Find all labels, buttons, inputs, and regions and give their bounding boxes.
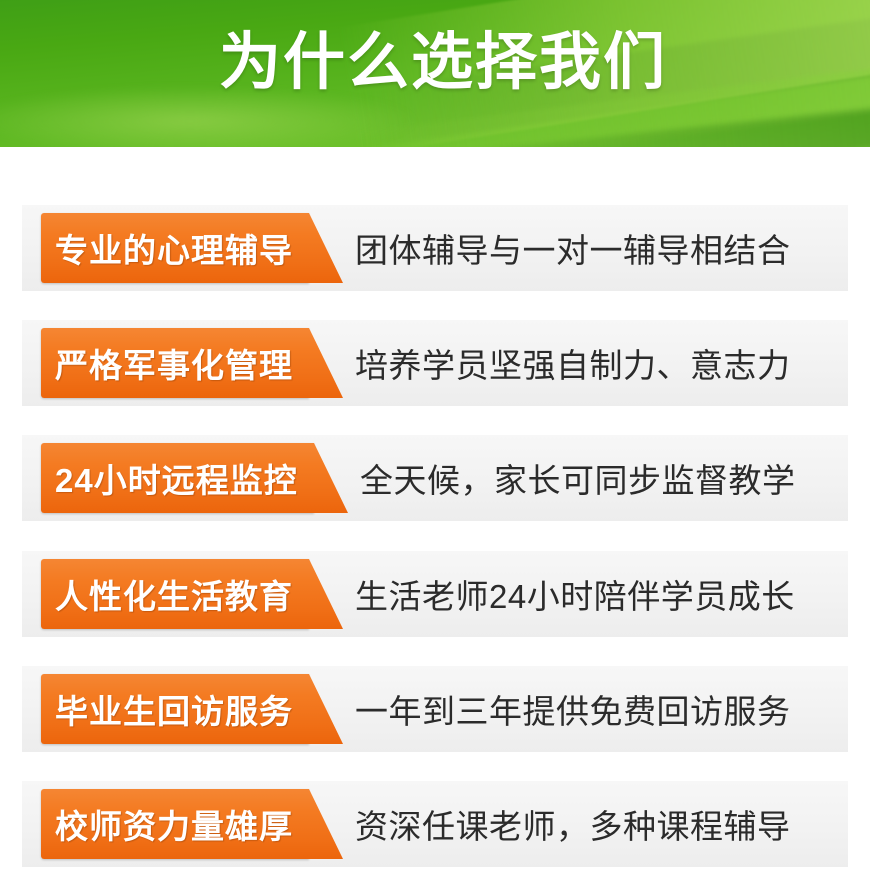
feature-tag-label: 毕业生回访服务 [55,685,293,733]
feature-tag-wedge-icon [309,674,343,744]
feature-description: 一年到三年提供免费回访服务 [355,666,791,752]
feature-tag-wedge-icon [309,559,343,629]
feature-tag-wedge-icon [309,328,343,398]
feature-tag: 专业的心理辅导 [41,213,309,283]
feature-description: 生活老师24小时陪伴学员成长 [355,551,795,637]
feature-row: 24小时远程监控 全天候，家长可同步监督教学 [22,435,848,521]
feature-description: 培养学员坚强自制力、意志力 [355,320,791,406]
feature-tag: 校师资力量雄厚 [41,789,309,859]
header-banner: 为什么选择我们 [0,0,870,147]
feature-tag: 24小时远程监控 [41,443,314,513]
feature-description: 团体辅导与一对一辅导相结合 [355,205,791,291]
feature-row: 严格军事化管理 培养学员坚强自制力、意志力 [22,320,848,406]
feature-description: 全天候，家长可同步监督教学 [360,435,796,521]
feature-tag-label: 校师资力量雄厚 [55,800,293,848]
feature-tag-label: 专业的心理辅导 [55,224,293,272]
feature-row: 人性化生活教育 生活老师24小时陪伴学员成长 [22,551,848,637]
feature-row: 校师资力量雄厚 资深任课老师，多种课程辅导 [22,781,848,867]
feature-tag: 人性化生活教育 [41,559,309,629]
page-title: 为什么选择我们 [0,24,870,102]
feature-list: 专业的心理辅导 团体辅导与一对一辅导相结合 严格军事化管理 培养学员坚强自制力、… [0,147,870,880]
feature-tag-label: 24小时远程监控 [55,454,298,502]
feature-tag-wedge-icon [314,443,348,513]
feature-row: 毕业生回访服务 一年到三年提供免费回访服务 [22,666,848,752]
feature-tag-wedge-icon [309,789,343,859]
feature-row: 专业的心理辅导 团体辅导与一对一辅导相结合 [22,205,848,291]
feature-description: 资深任课老师，多种课程辅导 [355,781,791,867]
feature-tag-label: 严格军事化管理 [55,339,293,387]
feature-tag: 严格军事化管理 [41,328,309,398]
feature-tag-label: 人性化生活教育 [55,570,293,618]
feature-tag: 毕业生回访服务 [41,674,309,744]
feature-tag-wedge-icon [309,213,343,283]
